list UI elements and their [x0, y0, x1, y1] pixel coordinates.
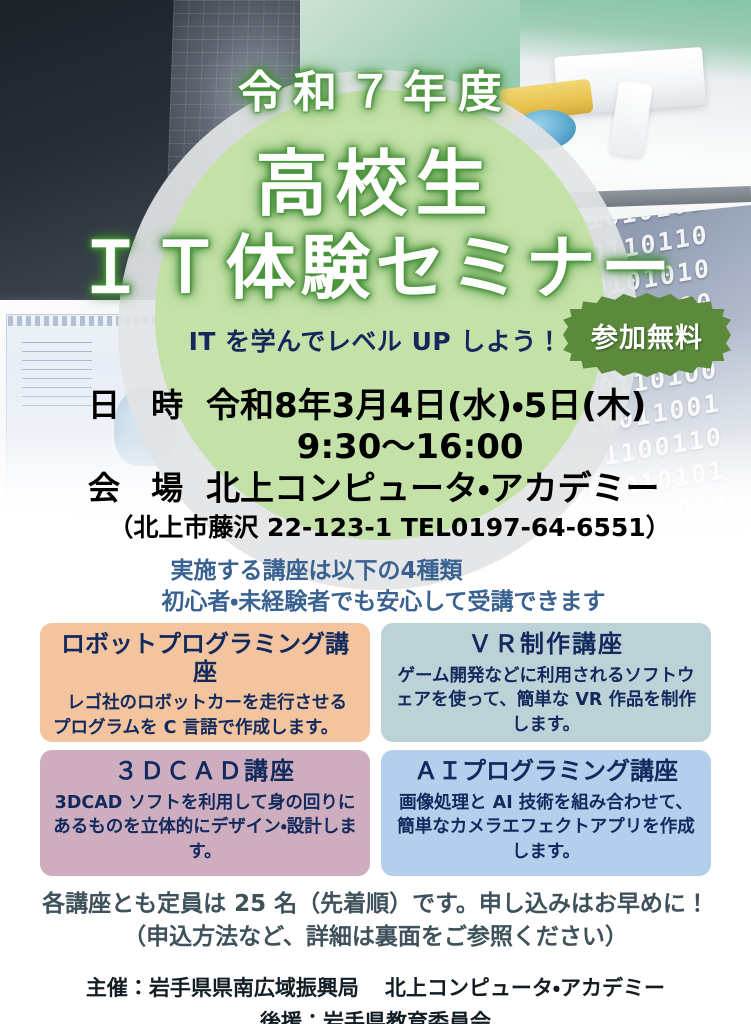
free-admission-badge: 参加無料	[563, 293, 731, 377]
course-card-ai[interactable]: ＡＩプログラミング講座 画像処理と AI 技術を組み合わせて、簡単なカメラエフェ…	[381, 750, 711, 876]
capacity-note-line-2: （申込方法など、詳細は裏面をご参照ください）	[0, 921, 751, 954]
course-title: ＡＩプログラミング講座	[394, 758, 698, 786]
event-info-block: 日 時 令和8年3月4日(水)・5日(木) 9:30〜16:00 会 場 北上コ…	[0, 386, 751, 510]
course-description: レゴ社のロボットカーを走行させるプログラムを C 言語で作成します。	[53, 691, 357, 741]
course-description: ゲーム開発などに利用されるソフトウェアを使って、簡単な VR 作品を制作します。	[394, 664, 698, 739]
lead-line-1: 実施する講座は以下の4種類	[0, 556, 751, 587]
venue-row: 会 場 北上コンピュータ・アカデミー	[0, 469, 751, 510]
poster-year: 令和７年度	[0, 56, 751, 120]
time-value: 9:30〜16:00	[206, 427, 646, 468]
footer-block: 各講座とも定員は 25 名（先着順）です。申し込みはお早めに！ （申込方法など、…	[0, 888, 751, 1024]
course-title: ３ＤＣＡＤ講座	[53, 758, 357, 786]
free-admission-label: 参加無料	[563, 293, 731, 377]
course-card-vr[interactable]: ＶＲ制作講座 ゲーム開発などに利用されるソフトウェアを使って、簡単な VR 作品…	[381, 623, 711, 742]
course-description: 画像処理と AI 技術を組み合わせて、簡単なカメラエフェクトアプリを作成します。	[394, 791, 698, 866]
course-title: ＶＲ制作講座	[394, 631, 698, 659]
lead-text: 実施する講座は以下の4種類 初心者・未経験者でも安心して受講できます	[0, 556, 751, 618]
course-grid: ロボットプログラミング講座 レゴ社のロボットカーを走行させるプログラムを C 言…	[40, 623, 711, 876]
lead-line-2: 初心者・未経験者でも安心して受講できます	[0, 587, 751, 618]
course-card-3dcad[interactable]: ３ＤＣＡＤ講座 3DCAD ソフトを利用して身の回りにあるものを立体的にデザイン…	[40, 750, 370, 876]
capacity-note-line-1: 各講座とも定員は 25 名（先着順）です。申し込みはお早めに！	[0, 888, 751, 921]
venue-label: 会 場	[88, 469, 206, 508]
date-value-group: 令和8年3月4日(水)・5日(木) 9:30〜16:00	[206, 386, 646, 469]
date-row: 日 時 令和8年3月4日(水)・5日(木) 9:30〜16:00	[0, 386, 751, 469]
venue-value: 北上コンピュータ・アカデミー	[206, 469, 660, 510]
organizer-primary: 主催：岩手県県南広域振興局	[86, 976, 359, 1000]
date-value: 令和8年3月4日(水)・5日(木)	[206, 386, 646, 426]
organizer-secondary: 北上コンピュータ・アカデミー	[385, 976, 665, 1000]
course-title: ロボットプログラミング講座	[53, 631, 357, 686]
course-description: 3DCAD ソフトを利用して身の回りにあるものを立体的にデザイン・設計します。	[53, 791, 357, 866]
supporter-line: 後援：岩手県教育委員会	[0, 1005, 751, 1024]
venue-address: （北上市藤沢 22-123-1 TEL0197-64-6551）	[0, 508, 751, 544]
date-label: 日 時	[88, 386, 206, 425]
organizer-line: 主催：岩手県県南広域振興局北上コンピュータ・アカデミー	[0, 971, 751, 1005]
organizer-block: 主催：岩手県県南広域振興局北上コンピュータ・アカデミー 後援：岩手県教育委員会	[0, 971, 751, 1024]
course-card-robot[interactable]: ロボットプログラミング講座 レゴ社のロボットカーを走行させるプログラムを C 言…	[40, 623, 370, 742]
poster-root: 01010101001010101 11011011010110110 1010…	[0, 0, 751, 1024]
